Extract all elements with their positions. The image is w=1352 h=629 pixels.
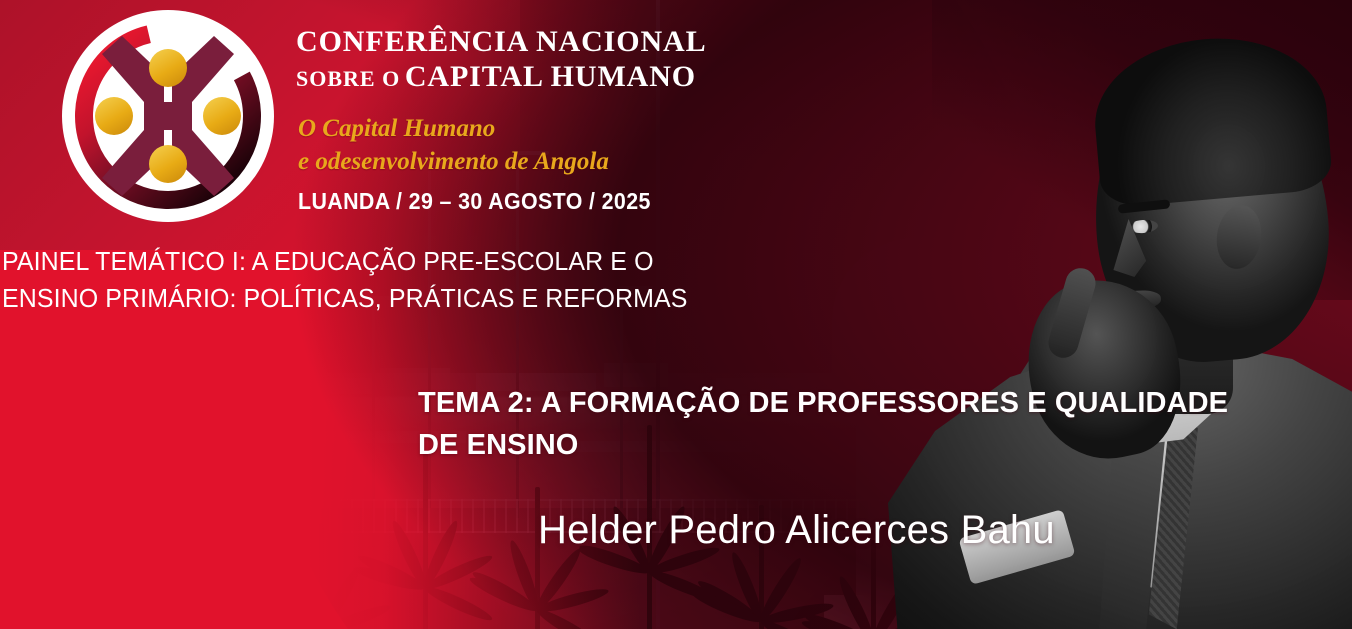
logo-dot-left bbox=[95, 97, 133, 135]
speaker-name: Helder Pedro Alicerces Bahu bbox=[538, 508, 1055, 553]
title-line-2-large: CAPITAL HUMANO bbox=[405, 60, 696, 93]
event-dateline: LUANDA / 29 – 30 AGOSTO / 2025 bbox=[298, 188, 651, 215]
panel-theme: PAINEL TEMÁTICO I: A EDUCAÇÃO PRE-ESCOLA… bbox=[2, 243, 674, 317]
logo-dot-top bbox=[149, 49, 187, 87]
tema-line-2: DE ENSINO bbox=[418, 424, 1248, 466]
panel-line-1: PAINEL TEMÁTICO I: A EDUCAÇÃO PRE-ESCOLA… bbox=[2, 243, 674, 280]
title-line-2-small: SOBRE O bbox=[296, 66, 400, 91]
conference-tagline: O Capital Humano e odesenvolvimento de A… bbox=[298, 112, 918, 178]
title-line-2: SOBRE O CAPITAL HUMANO bbox=[296, 60, 936, 93]
tagline-line-1: O Capital Humano bbox=[298, 112, 918, 145]
tagline-line-2: e odesenvolvimento de Angola bbox=[298, 145, 918, 178]
conference-title: CONFERÊNCIA NACIONAL SOBRE O CAPITAL HUM… bbox=[296, 26, 936, 93]
conference-logo bbox=[58, 6, 278, 226]
logo-dot-bottom bbox=[149, 145, 187, 183]
tema-title: TEMA 2: A FORMAÇÃO DE PROFESSORES E QUAL… bbox=[418, 382, 1248, 467]
logo-dot-right bbox=[203, 97, 241, 135]
title-line-1: CONFERÊNCIA NACIONAL bbox=[296, 26, 936, 58]
conference-slide: CONFERÊNCIA NACIONAL SOBRE O CAPITAL HUM… bbox=[0, 0, 1352, 629]
tema-line-1: TEMA 2: A FORMAÇÃO DE PROFESSORES E QUAL… bbox=[418, 382, 1248, 424]
panel-line-2: ENSINO PRIMÁRIO: POLÍTICAS, PRÁTICAS E R… bbox=[2, 280, 674, 317]
